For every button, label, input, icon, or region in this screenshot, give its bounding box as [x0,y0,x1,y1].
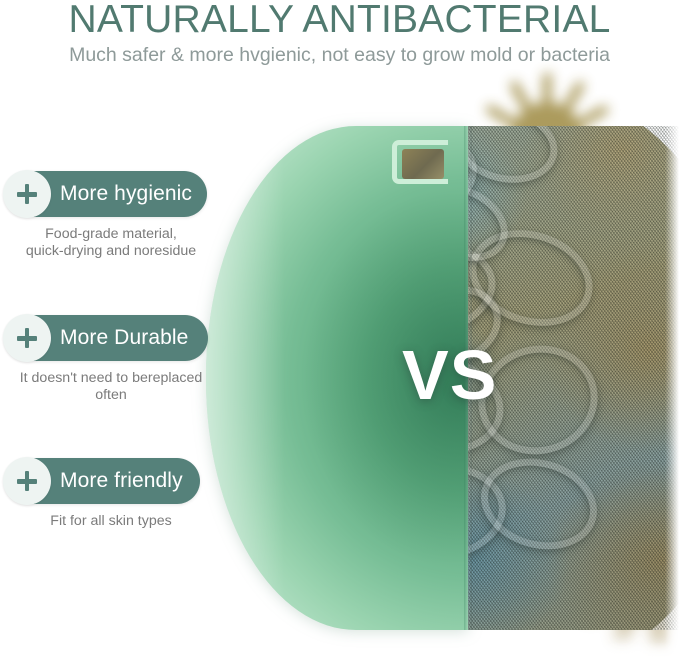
germ-spike [576,106,606,129]
germ-spike [510,83,533,113]
plus-icon [3,314,51,362]
page-title: NATURALLY ANTIBACTERIAL [0,0,679,42]
page-subtitle: Much safer & more hvgienic, not easy to … [0,42,679,68]
hanging-hole [392,140,448,184]
vs-label: VS [402,340,497,410]
plus-icon [3,457,51,505]
germ-spike [488,106,518,129]
germ-spike-tip [598,104,610,116]
feature-caption: Fit for all skin types [0,513,222,530]
germ-spike-tip [484,104,496,116]
feature-caption: It doesn't need to bereplaced often [0,370,222,404]
germ-spike-tip [653,632,665,644]
germ-spike [561,83,584,113]
header: NATURALLY ANTIBACTERIAL Much safer & mor… [0,0,679,78]
feature-badge-label: More Durable [60,326,188,350]
plus-icon [3,170,51,218]
feature-item-more-durable: More Durable It doesn't need to bereplac… [0,315,240,404]
feature-item-more-hygienic: More hygienic Food-grade material, quick… [0,171,240,260]
feature-caption: Food-grade material, quick-drying and no… [0,226,222,260]
germ-spike-tip [574,80,586,92]
feature-badge-label: More friendly [60,469,183,493]
germ-spike [543,77,552,107]
feature-badge-label: More hygienic [60,182,192,206]
feature-item-more-friendly: More friendly Fit for all skin types [0,458,240,530]
germ-spike-tip [508,80,520,92]
mesh-loofah-half [468,126,679,630]
loofah-body [468,126,679,630]
feature-badge-more-friendly[interactable]: More friendly [4,458,200,504]
product-comparison: VS [206,126,468,630]
feature-badge-more-durable[interactable]: More Durable [4,315,208,361]
feature-badge-more-hygienic[interactable]: More hygienic [4,171,207,217]
